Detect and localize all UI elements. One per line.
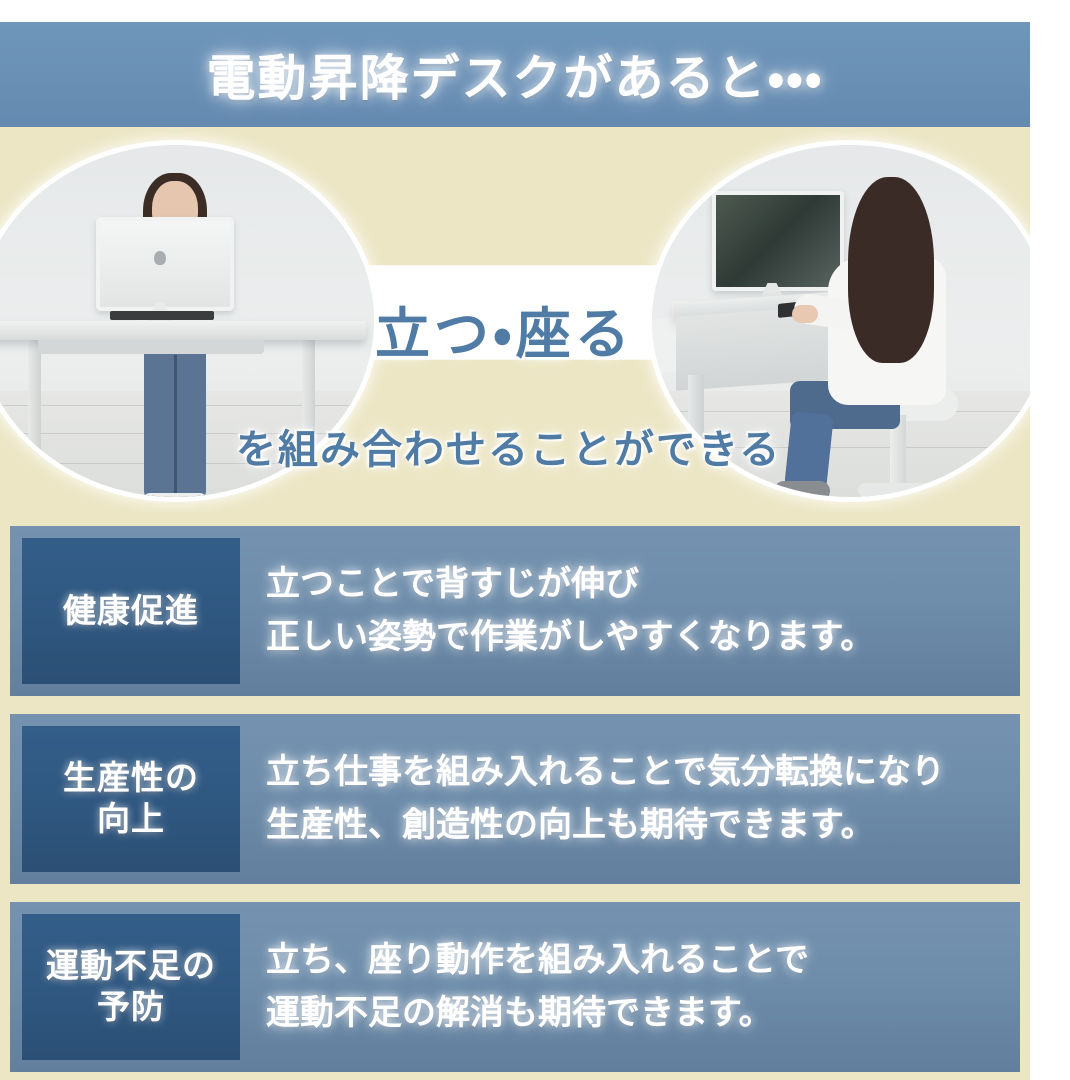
person-hair xyxy=(848,177,934,363)
product-infographic: 電動昇降デスクがあると・・・ xyxy=(0,0,1070,1080)
person-shoes xyxy=(142,493,208,497)
person-shin xyxy=(784,411,834,491)
desk-underside xyxy=(38,340,264,354)
page-title: 電動昇降デスクがあると・・・ xyxy=(207,39,824,110)
stool-base xyxy=(858,483,942,497)
keyboard xyxy=(110,311,214,320)
benefit-badge-health: 健康促進 xyxy=(22,538,240,684)
benefit-description: 立ち、座り動作を組み入れることで 運動不足の解消も期待できます。 xyxy=(266,934,1002,1039)
benefit-body-exercise: 立ち、座り動作を組み入れることで 運動不足の解消も期待できます。 xyxy=(240,902,1020,1072)
hero-caption-sub: を組み合わせることができる xyxy=(236,417,781,475)
benefit-row-exercise: 運動不足の 予防 立ち、座り動作を組み入れることで 運動不足の解消も期待できます… xyxy=(10,902,1020,1072)
imac-monitor xyxy=(712,191,844,291)
benefit-description: 立ち仕事を組み入れることで気分転換になり 生産性、創造性の向上も期待できます。 xyxy=(266,746,1002,851)
benefit-badge-productivity: 生産性の 向上 xyxy=(22,726,240,872)
benefit-badge-label: 健康促進 xyxy=(63,591,199,632)
benefit-row-health: 健康促進 立つことで背すじが伸び 正しい姿勢で作業がしやすくなります。 xyxy=(10,526,1020,696)
benefit-body-productivity: 立ち仕事を組み入れることで気分転換になり 生産性、創造性の向上も期待できます。 xyxy=(240,714,1020,884)
benefit-badge-label: 運動不足の 予防 xyxy=(46,946,216,1028)
hero-caption-main: 立つ・座る xyxy=(375,289,634,369)
benefit-badge-exercise: 運動不足の 予防 xyxy=(22,914,240,1060)
person-shoe xyxy=(774,481,830,497)
desk-top-surface xyxy=(0,321,366,340)
person-leg-gap xyxy=(174,355,177,495)
desk-leg xyxy=(28,340,41,490)
person-hand xyxy=(792,305,818,323)
benefit-row-productivity: 生産性の 向上 立ち仕事を組み入れることで気分転換になり 生産性、創造性の向上も… xyxy=(10,714,1020,884)
hero-section: 立つ・座る を組み合わせることができる xyxy=(0,127,1030,512)
header-band: 電動昇降デスクがあると・・・ xyxy=(0,22,1030,127)
imac-monitor xyxy=(96,217,234,311)
benefit-description: 立つことで背すじが伸び 正しい姿勢で作業がしやすくなります。 xyxy=(266,558,1002,663)
benefit-list: 健康促進 立つことで背すじが伸び 正しい姿勢で作業がしやすくなります。 生産性の… xyxy=(10,526,1020,1080)
benefit-badge-label: 生産性の 向上 xyxy=(63,758,199,840)
apple-logo-icon xyxy=(154,251,166,265)
benefit-body-health: 立つことで背すじが伸び 正しい姿勢で作業がしやすくなります。 xyxy=(240,526,1020,696)
